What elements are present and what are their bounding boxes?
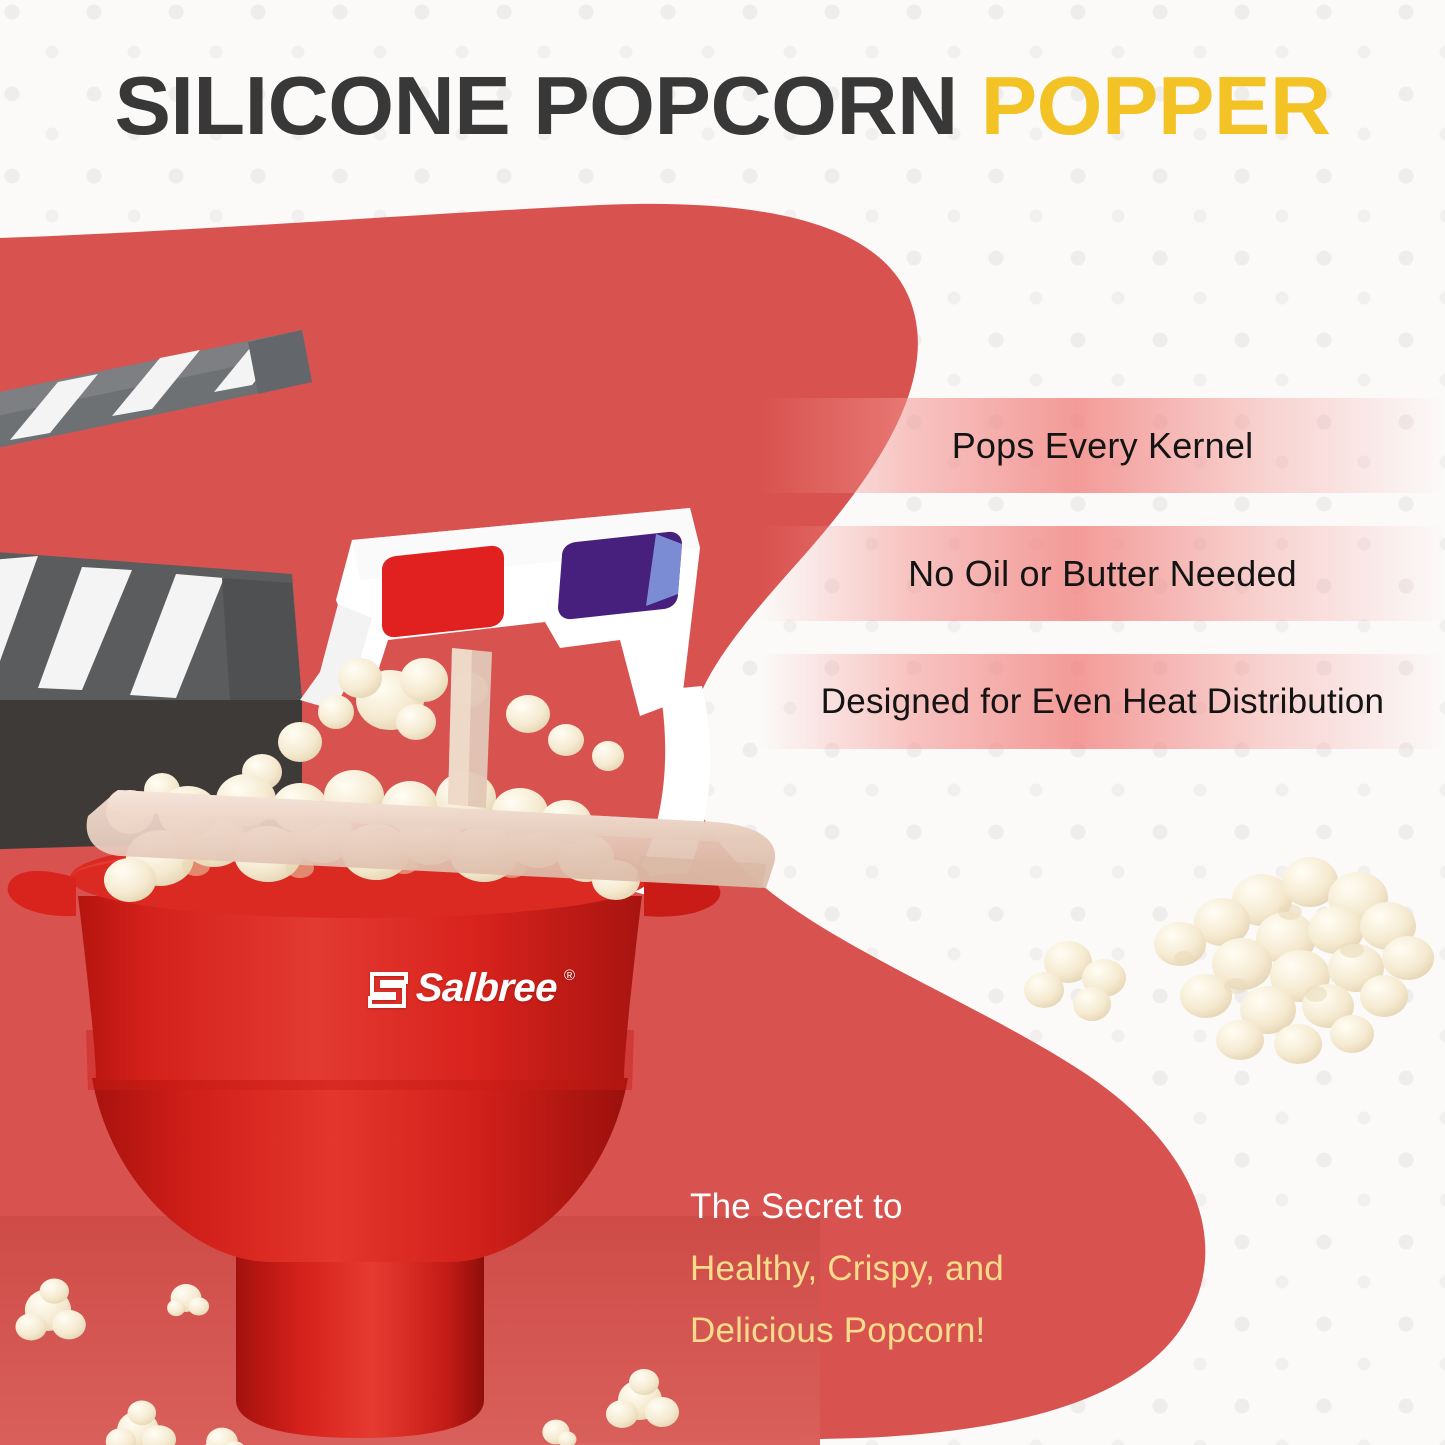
bowl-base (236, 1236, 484, 1438)
brand-name: Salbree (415, 968, 558, 1008)
feature-label: No Oil or Butter Needed (908, 553, 1297, 595)
brand-logo: Salbree ® (368, 968, 575, 1012)
tagline-line-3: Delicious Popcorn! (690, 1300, 1120, 1362)
feature-band: No Oil or Butter Needed (760, 526, 1445, 621)
tagline-line-2: Healthy, Crispy, and (690, 1238, 1120, 1300)
title-part-accent: POPPER (981, 59, 1331, 152)
red-lens (382, 546, 504, 637)
trademark-symbol: ® (564, 968, 575, 983)
feature-label: Pops Every Kernel (952, 425, 1254, 467)
feature-list: Pops Every Kernel No Oil or Butter Neede… (760, 398, 1445, 753)
feature-band: Pops Every Kernel (760, 398, 1445, 493)
feature-band: Designed for Even Heat Distribution (760, 654, 1445, 749)
title-part-primary: SILICONE POPCORN (114, 59, 957, 152)
page-title: SILICONE POPCORN POPPER (0, 60, 1445, 152)
tagline-line-1: The Secret to (690, 1176, 1120, 1238)
product-infographic: SILICONE POPCORN POPPER Pops Every Kerne… (0, 0, 1445, 1445)
salbree-s-icon (368, 968, 410, 1012)
popcorn-pile-right (1024, 857, 1434, 1064)
tagline: The Secret to Healthy, Crispy, and Delic… (690, 1176, 1120, 1362)
feature-label: Designed for Even Heat Distribution (821, 682, 1384, 722)
